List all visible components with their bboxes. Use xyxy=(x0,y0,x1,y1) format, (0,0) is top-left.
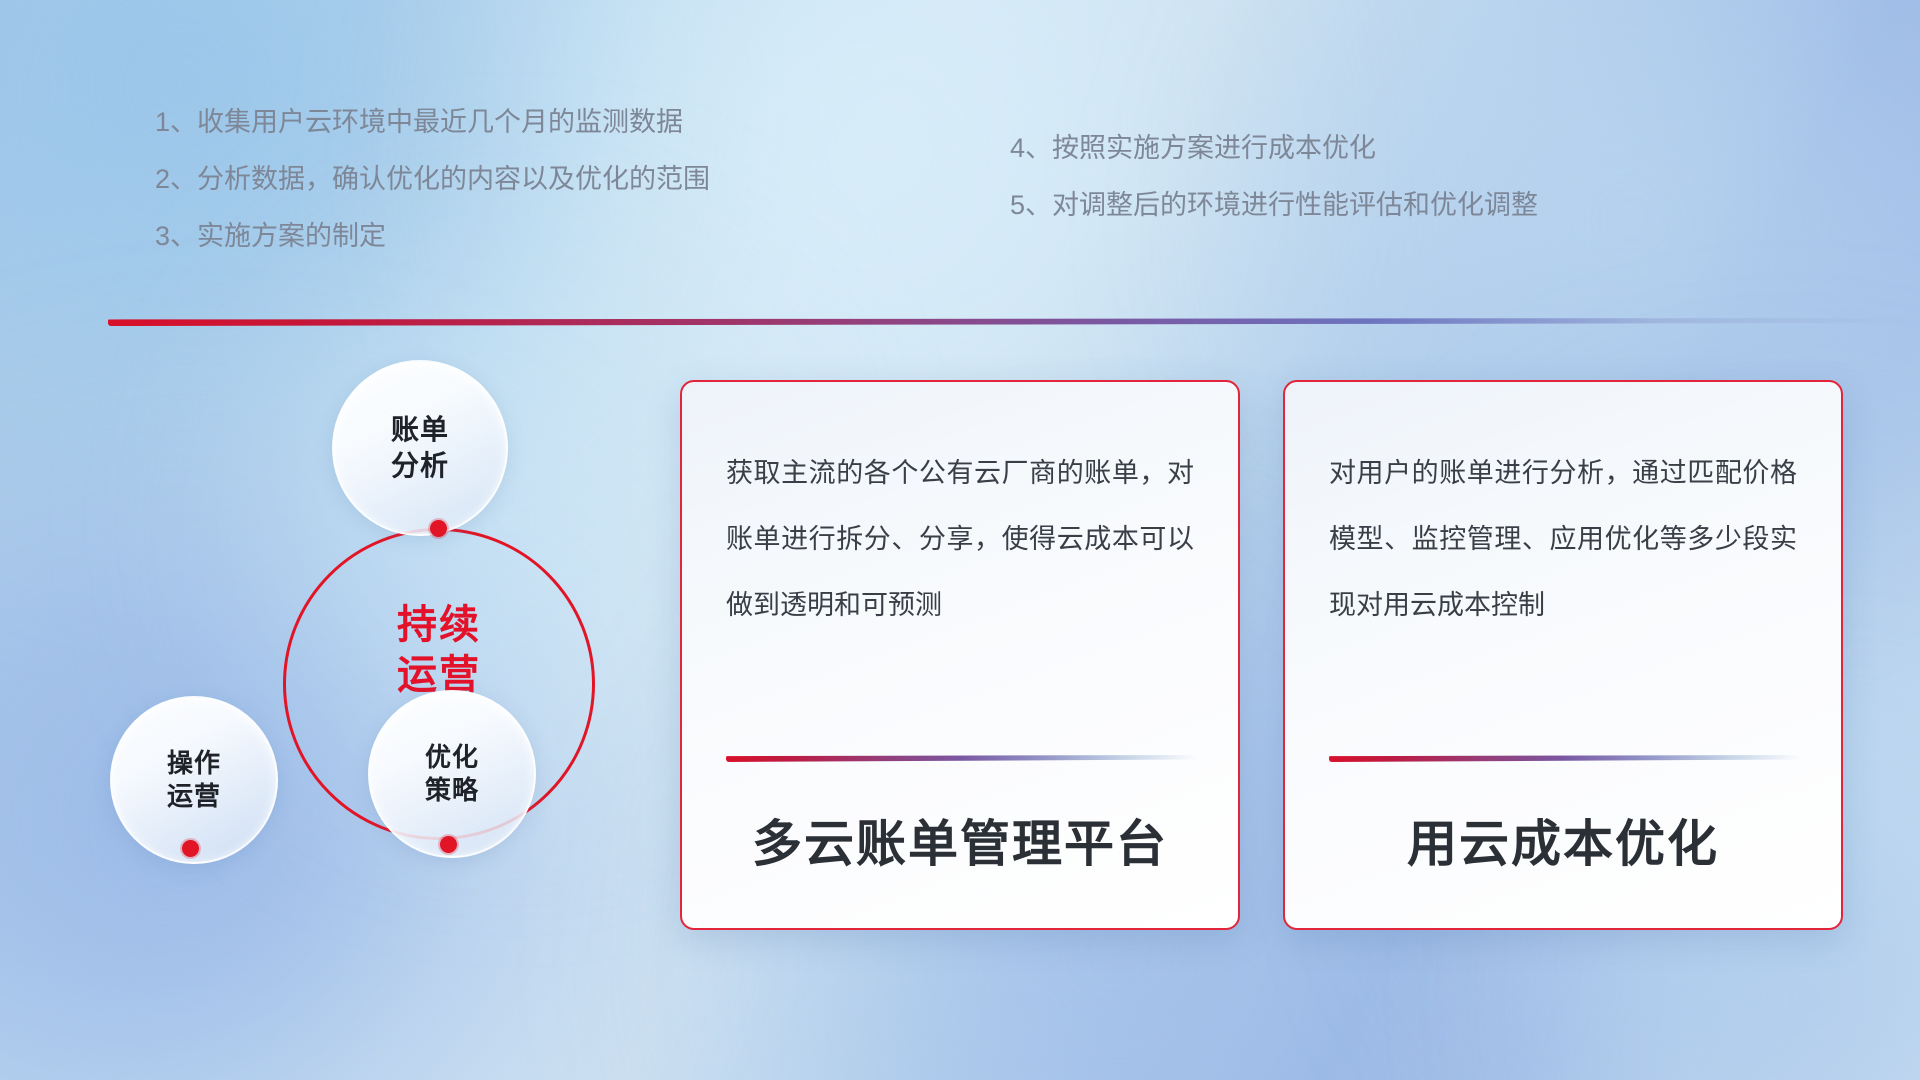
step-item-2: 2、分析数据，确认优化的内容以及优化的范围 xyxy=(155,151,710,208)
card-2-divider xyxy=(1329,755,1801,762)
venn-node-dot-bottom-left xyxy=(182,840,199,857)
step-item-1: 1、收集用户云环境中最近几个月的监测数据 xyxy=(155,94,710,151)
steps-list-right: 4、按照实施方案进行成本优化 5、对调整后的环境进行性能评估和优化调整 xyxy=(1010,120,1538,234)
venn-bubble-operations[interactable]: 操作 运营 xyxy=(110,696,278,864)
card-2-body: 对用户的账单进行分析，通过匹配价格模型、监控管理、应用优化等多少段实现对用云成本… xyxy=(1329,440,1797,638)
card-2-title: 用云成本优化 xyxy=(1285,804,1841,876)
venn-node-dot-top xyxy=(430,520,447,537)
venn-node-dot-bottom-right xyxy=(440,836,457,853)
step-item-4: 4、按照实施方案进行成本优化 xyxy=(1010,120,1538,177)
card-cloud-cost-optimization[interactable]: 对用户的账单进行分析，通过匹配价格模型、监控管理、应用优化等多少段实现对用云成本… xyxy=(1283,380,1843,930)
venn-bubble-optimization-strategy[interactable]: 优化 策略 xyxy=(368,690,536,858)
card-multicloud-billing-platform[interactable]: 获取主流的各个公有云厂商的账单，对账单进行拆分、分享，使得云成本可以做到透明和可… xyxy=(680,380,1240,930)
venn-bubble-billing-analysis[interactable]: 账单 分析 xyxy=(332,360,508,536)
bubble-br-line-2: 策略 xyxy=(425,775,479,805)
bubble-top-line-1: 账单 xyxy=(391,414,449,445)
venn-center-line-1: 持续 xyxy=(283,600,595,650)
step-item-3: 3、实施方案的制定 xyxy=(155,208,710,265)
bubble-bl-line-1: 操作 xyxy=(167,748,221,778)
header-divider xyxy=(108,318,1908,326)
card-1-title: 多云账单管理平台 xyxy=(682,804,1238,876)
card-1-body: 获取主流的各个公有云厂商的账单，对账单进行拆分、分享，使得云成本可以做到透明和可… xyxy=(726,440,1194,638)
card-1-divider xyxy=(726,755,1198,762)
bubble-bl-line-2: 运营 xyxy=(167,781,221,811)
bubble-top-line-2: 分析 xyxy=(391,450,449,481)
bubble-br-line-1: 优化 xyxy=(425,742,479,772)
venn-center-label: 持续 运营 xyxy=(283,600,595,700)
step-item-5: 5、对调整后的环境进行性能评估和优化调整 xyxy=(1010,177,1538,234)
venn-diagram: 持续 运营 账单 分析 操作 运营 优化 策略 xyxy=(100,350,620,950)
steps-list-left: 1、收集用户云环境中最近几个月的监测数据 2、分析数据，确认优化的内容以及优化的… xyxy=(155,94,710,265)
